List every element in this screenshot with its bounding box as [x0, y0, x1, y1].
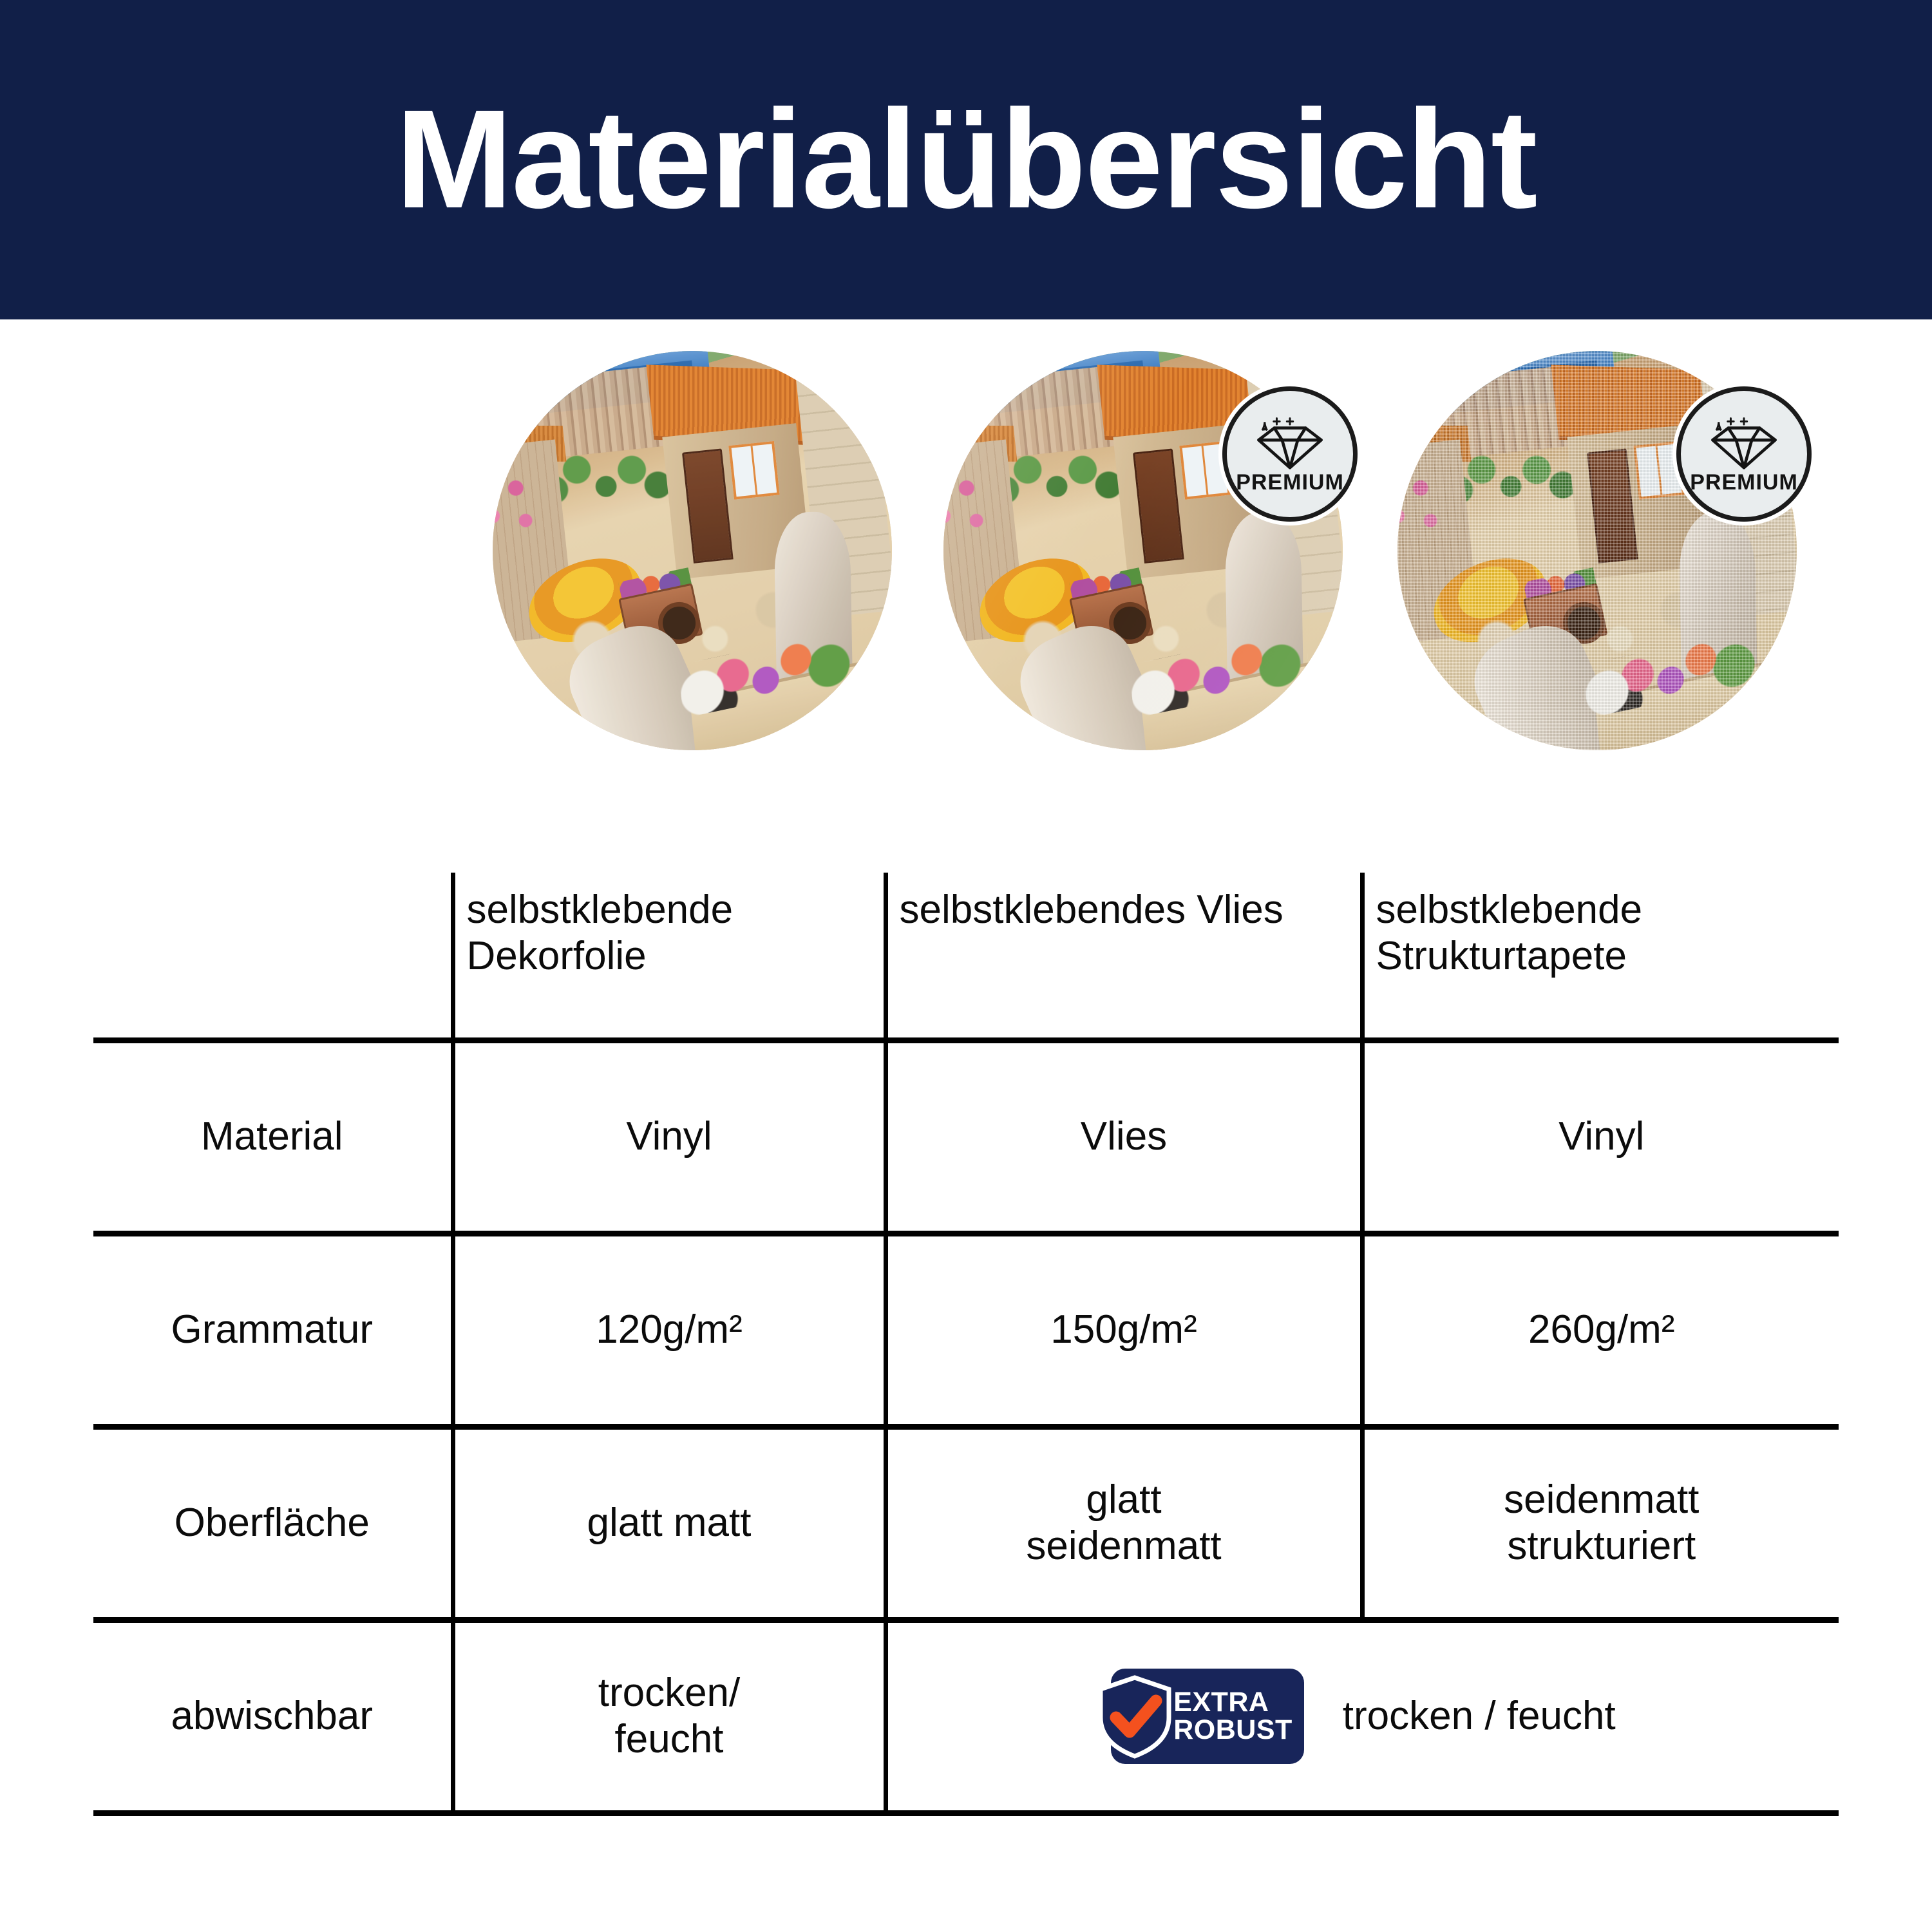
- premium-badge: PREMIUM: [1222, 386, 1358, 522]
- cell-oberflaeche-strukturtapete: seidenmatt strukturiert: [1362, 1426, 1839, 1620]
- header-band: Materialübersicht: [0, 0, 1932, 319]
- extra-robust-text: EXTRA ROBUST: [1173, 1689, 1293, 1744]
- material-overview-page: Materialübersicht: [0, 0, 1932, 1932]
- extra-robust-badge: EXTRA ROBUST: [1111, 1669, 1304, 1764]
- diamond-icon: [1708, 415, 1780, 470]
- row-label-grammatur: Grammatur: [93, 1233, 453, 1426]
- table-row: Oberfläche glatt matt glatt seidenmatt s…: [93, 1426, 1839, 1620]
- cell-material-strukturtapete: Vinyl: [1362, 1040, 1839, 1233]
- premium-badge-label: PREMIUM: [1690, 471, 1798, 493]
- table-row: Grammatur 120g/m² 150g/m² 260g/m²: [93, 1233, 1839, 1426]
- cell-grammatur-strukturtapete: 260g/m²: [1362, 1233, 1839, 1426]
- header-cell-empty: [93, 873, 453, 1040]
- header-cell-dekorfolie: selbstklebende Dekorfolie: [453, 873, 885, 1040]
- preview-row: [0, 351, 1932, 753]
- cell-abwischbar-merged-text: trocken / feucht: [1343, 1693, 1616, 1739]
- preview-image-dekorfolie: [493, 351, 892, 750]
- cell-grammatur-vlies: 150g/m²: [885, 1233, 1362, 1426]
- row-label-material: Material: [93, 1040, 453, 1233]
- extra-robust-line1: EXTRA: [1173, 1689, 1269, 1716]
- material-spec-table-wrapper: selbstklebende Dekorfolie selbstklebende…: [93, 873, 1839, 1816]
- row-label-abwischbar: abwischbar: [93, 1620, 453, 1813]
- cell-oberflaeche-vlies: glatt seidenmatt: [885, 1426, 1362, 1620]
- premium-badge-label: PREMIUM: [1236, 471, 1344, 493]
- table-header-row: selbstklebende Dekorfolie selbstklebende…: [93, 873, 1839, 1040]
- material-spec-table: selbstklebende Dekorfolie selbstklebende…: [93, 873, 1839, 1816]
- cell-abwischbar-dekorfolie: trocken/ feucht: [453, 1620, 885, 1813]
- page-title: Materialübersicht: [395, 90, 1536, 230]
- shield-check-icon: [1097, 1675, 1173, 1759]
- cell-material-vlies: Vlies: [885, 1040, 1362, 1233]
- row-label-oberflaeche: Oberfläche: [93, 1426, 453, 1620]
- cell-grammatur-dekorfolie: 120g/m²: [453, 1233, 885, 1426]
- premium-badge: PREMIUM: [1676, 386, 1812, 522]
- table-row: Material Vinyl Vlies Vinyl: [93, 1040, 1839, 1233]
- matte-overlay: [493, 351, 892, 750]
- table-row: abwischbar trocken/ feucht EXTRA: [93, 1620, 1839, 1813]
- header-cell-vlies: selbstklebendes Vlies: [885, 873, 1362, 1040]
- extra-robust-line2: ROBUST: [1173, 1716, 1293, 1744]
- preview-dekorfolie[interactable]: [493, 351, 892, 750]
- diamond-icon: [1254, 415, 1326, 470]
- header-cell-strukturtapete: selbstklebende Strukturtapete: [1362, 873, 1839, 1040]
- cell-abwischbar-merged: EXTRA ROBUST trocken / feucht: [885, 1620, 1839, 1813]
- merged-cell-content: EXTRA ROBUST trocken / feucht: [900, 1623, 1828, 1810]
- cell-material-dekorfolie: Vinyl: [453, 1040, 885, 1233]
- cell-oberflaeche-dekorfolie: glatt matt: [453, 1426, 885, 1620]
